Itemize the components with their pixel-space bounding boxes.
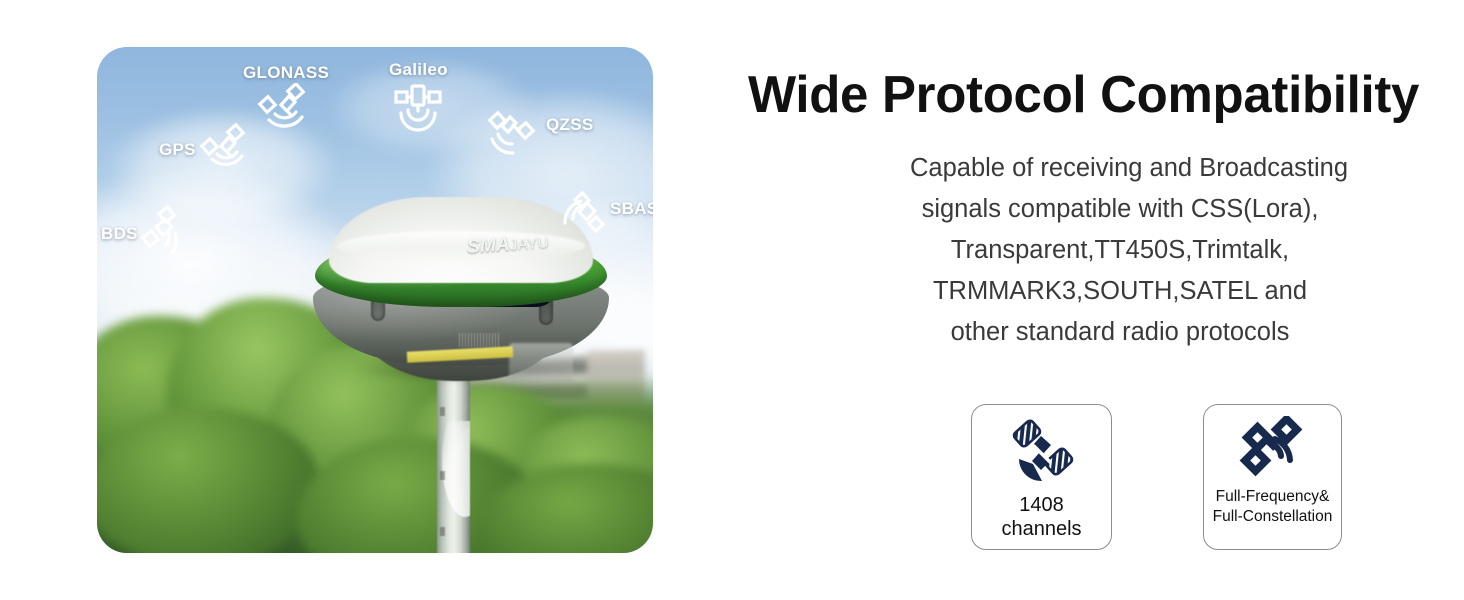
description-paragraph: Capable of receiving and Broadcasting si… [910, 148, 1330, 353]
constellation-tag-bds: BDS [101, 205, 197, 262]
description-line: TRMMARK3,SOUTH,SATEL and [910, 271, 1330, 312]
full-frequency-label: Full-Frequency& [1213, 487, 1333, 507]
survey-pole [437, 359, 470, 553]
channels-label: channels [1001, 517, 1081, 541]
constellation-tag-sbas: SBAS [551, 189, 653, 248]
description-line: signals compatible with CSS(Lora), [910, 189, 1330, 230]
constellation-label: GLONASS [243, 63, 329, 83]
page-title: Wide Protocol Compatibility [748, 66, 1424, 124]
brand-primary: SMA [466, 234, 510, 258]
gnss-receiver-photo: SMAJAYU GPS [97, 47, 653, 553]
badge-text: 1408 channels [1001, 493, 1081, 541]
promo-banner: SMAJAYU GPS [0, 0, 1464, 600]
full-constellation-label: Full-Constellation [1213, 507, 1333, 527]
feature-badge-group: 1408 channels [971, 404, 1342, 550]
satellite-signal-icon [1235, 415, 1311, 487]
satellite-signal-icon [487, 103, 543, 162]
constellation-label: QZSS [546, 115, 594, 135]
constellation-label: BDS [101, 224, 138, 244]
satellite-signal-icon [551, 189, 607, 248]
description-line: Transparent,TT450S,Trimtalk, [910, 230, 1330, 271]
constellation-tag-galileo: Galileo [389, 60, 448, 137]
constellation-label: GPS [159, 140, 196, 160]
satellite-signal-icon [141, 205, 197, 262]
satellite-signal-icon [256, 83, 316, 142]
brand-secondary: JAYU [509, 234, 549, 254]
constellation-tag-qzss: QZSS [487, 103, 594, 162]
channels-badge: 1408 channels [971, 404, 1112, 550]
constellation-label: Galileo [389, 60, 448, 80]
description-line: other standard radio protocols [910, 312, 1330, 353]
content-column: Wide Protocol Compatibility Capable of r… [700, 0, 1464, 600]
constellation-label: SBAS [610, 199, 653, 219]
constellation-tag-gps: GPS [159, 121, 255, 178]
constellation-tag-glonass: GLONASS [243, 63, 329, 142]
badge-text: Full-Frequency& Full-Constellation [1213, 487, 1333, 527]
channels-count: 1408 [1001, 493, 1081, 517]
description-line: Capable of receiving and Broadcasting [910, 148, 1330, 189]
satellite-signal-icon [389, 80, 447, 137]
satellite-icon [1005, 415, 1079, 493]
frequency-constellation-badge: Full-Frequency& Full-Constellation [1203, 404, 1342, 550]
